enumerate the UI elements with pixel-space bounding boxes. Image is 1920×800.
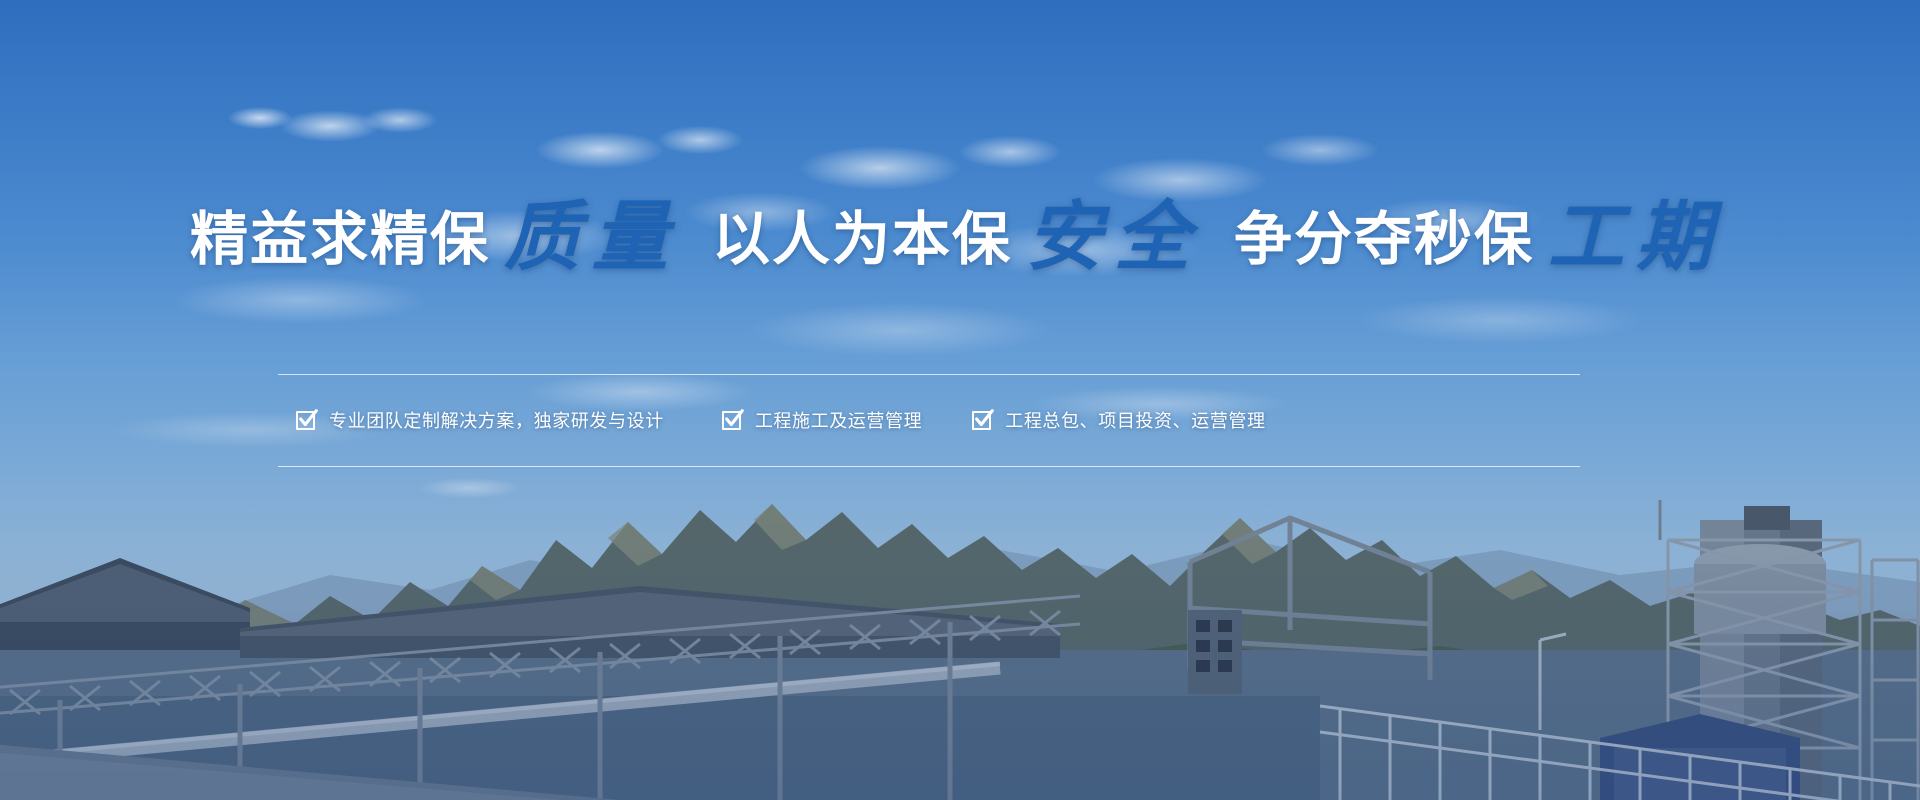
headline-segment-3: 以人为本保	[712, 211, 1012, 269]
feature-item-3: 工程总包、项目投资、运营管理	[972, 407, 1265, 433]
banner-headline: 精益求精保质量以人为本保安全争分夺秒保工期	[0, 196, 1920, 272]
divider-bottom	[278, 466, 1580, 467]
feature-label-1: 专业团队定制解决方案，独家研发与设计	[329, 407, 664, 433]
headline-segment-4-safety: 安全	[1026, 200, 1202, 276]
feature-label-2: 工程施工及运营管理	[755, 407, 922, 433]
feature-item-2: 工程施工及运营管理	[722, 407, 922, 433]
headline-segment-2-quality: 质量	[504, 200, 680, 276]
hero-banner: 精益求精保质量以人为本保安全争分夺秒保工期 专业团队定制解决方案，独家研发与设计…	[0, 0, 1920, 800]
feature-label-3: 工程总包、项目投资、运营管理	[1005, 407, 1265, 433]
headline-segment-1: 精益求精保	[190, 211, 490, 269]
headline-segment-5: 争分夺秒保	[1234, 211, 1534, 269]
headline-segment-6-schedule: 工期	[1548, 200, 1724, 276]
feature-list: 专业团队定制解决方案，独家研发与设计 工程施工及运营管理 工程总包、项目投资、运…	[278, 374, 1580, 466]
checkbox-checked-icon	[972, 411, 991, 430]
checkbox-checked-icon	[296, 411, 315, 430]
feature-item-1: 专业团队定制解决方案，独家研发与设计	[296, 407, 664, 433]
checkbox-checked-icon	[722, 411, 741, 430]
banner-text-overlay: 精益求精保质量以人为本保安全争分夺秒保工期 专业团队定制解决方案，独家研发与设计…	[0, 0, 1920, 800]
